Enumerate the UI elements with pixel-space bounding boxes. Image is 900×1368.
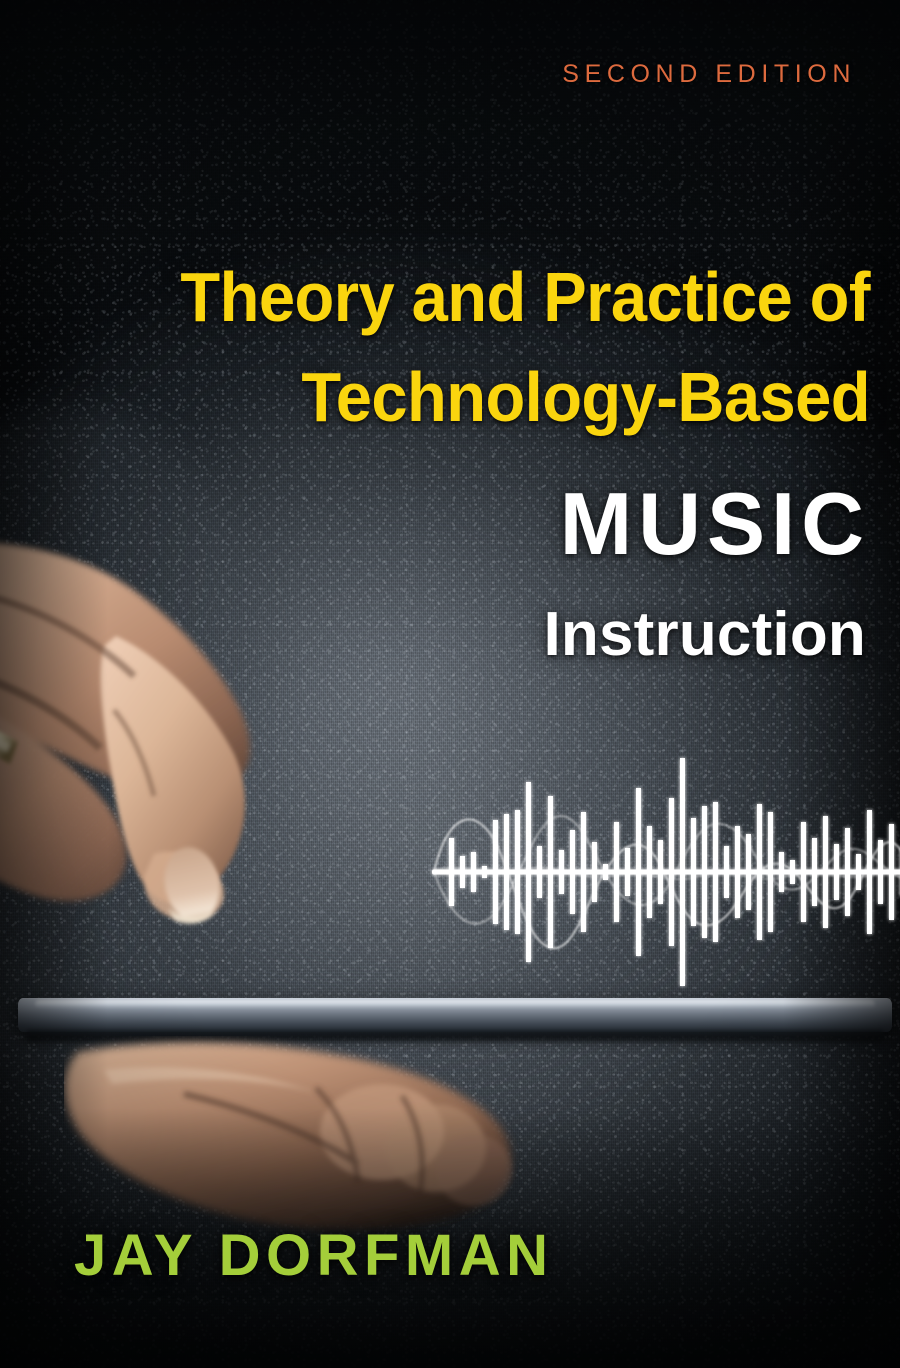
- author-name: JAY DORFMAN: [74, 1222, 553, 1289]
- title-line-2: Technology-Based: [89, 362, 870, 432]
- book-cover: Second Edition Theory and Practice of Te…: [0, 0, 900, 1368]
- book-title: Theory and Practice of Technology-Based …: [30, 262, 870, 666]
- vignette-overlay: [0, 0, 900, 1368]
- title-line-4-instruction: Instruction: [30, 604, 866, 666]
- title-line-1: Theory and Practice of: [89, 262, 870, 332]
- edition-label: Second Edition: [562, 60, 856, 89]
- title-line-3-music: MUSIC: [38, 480, 870, 568]
- cover-photograph: [0, 0, 900, 1368]
